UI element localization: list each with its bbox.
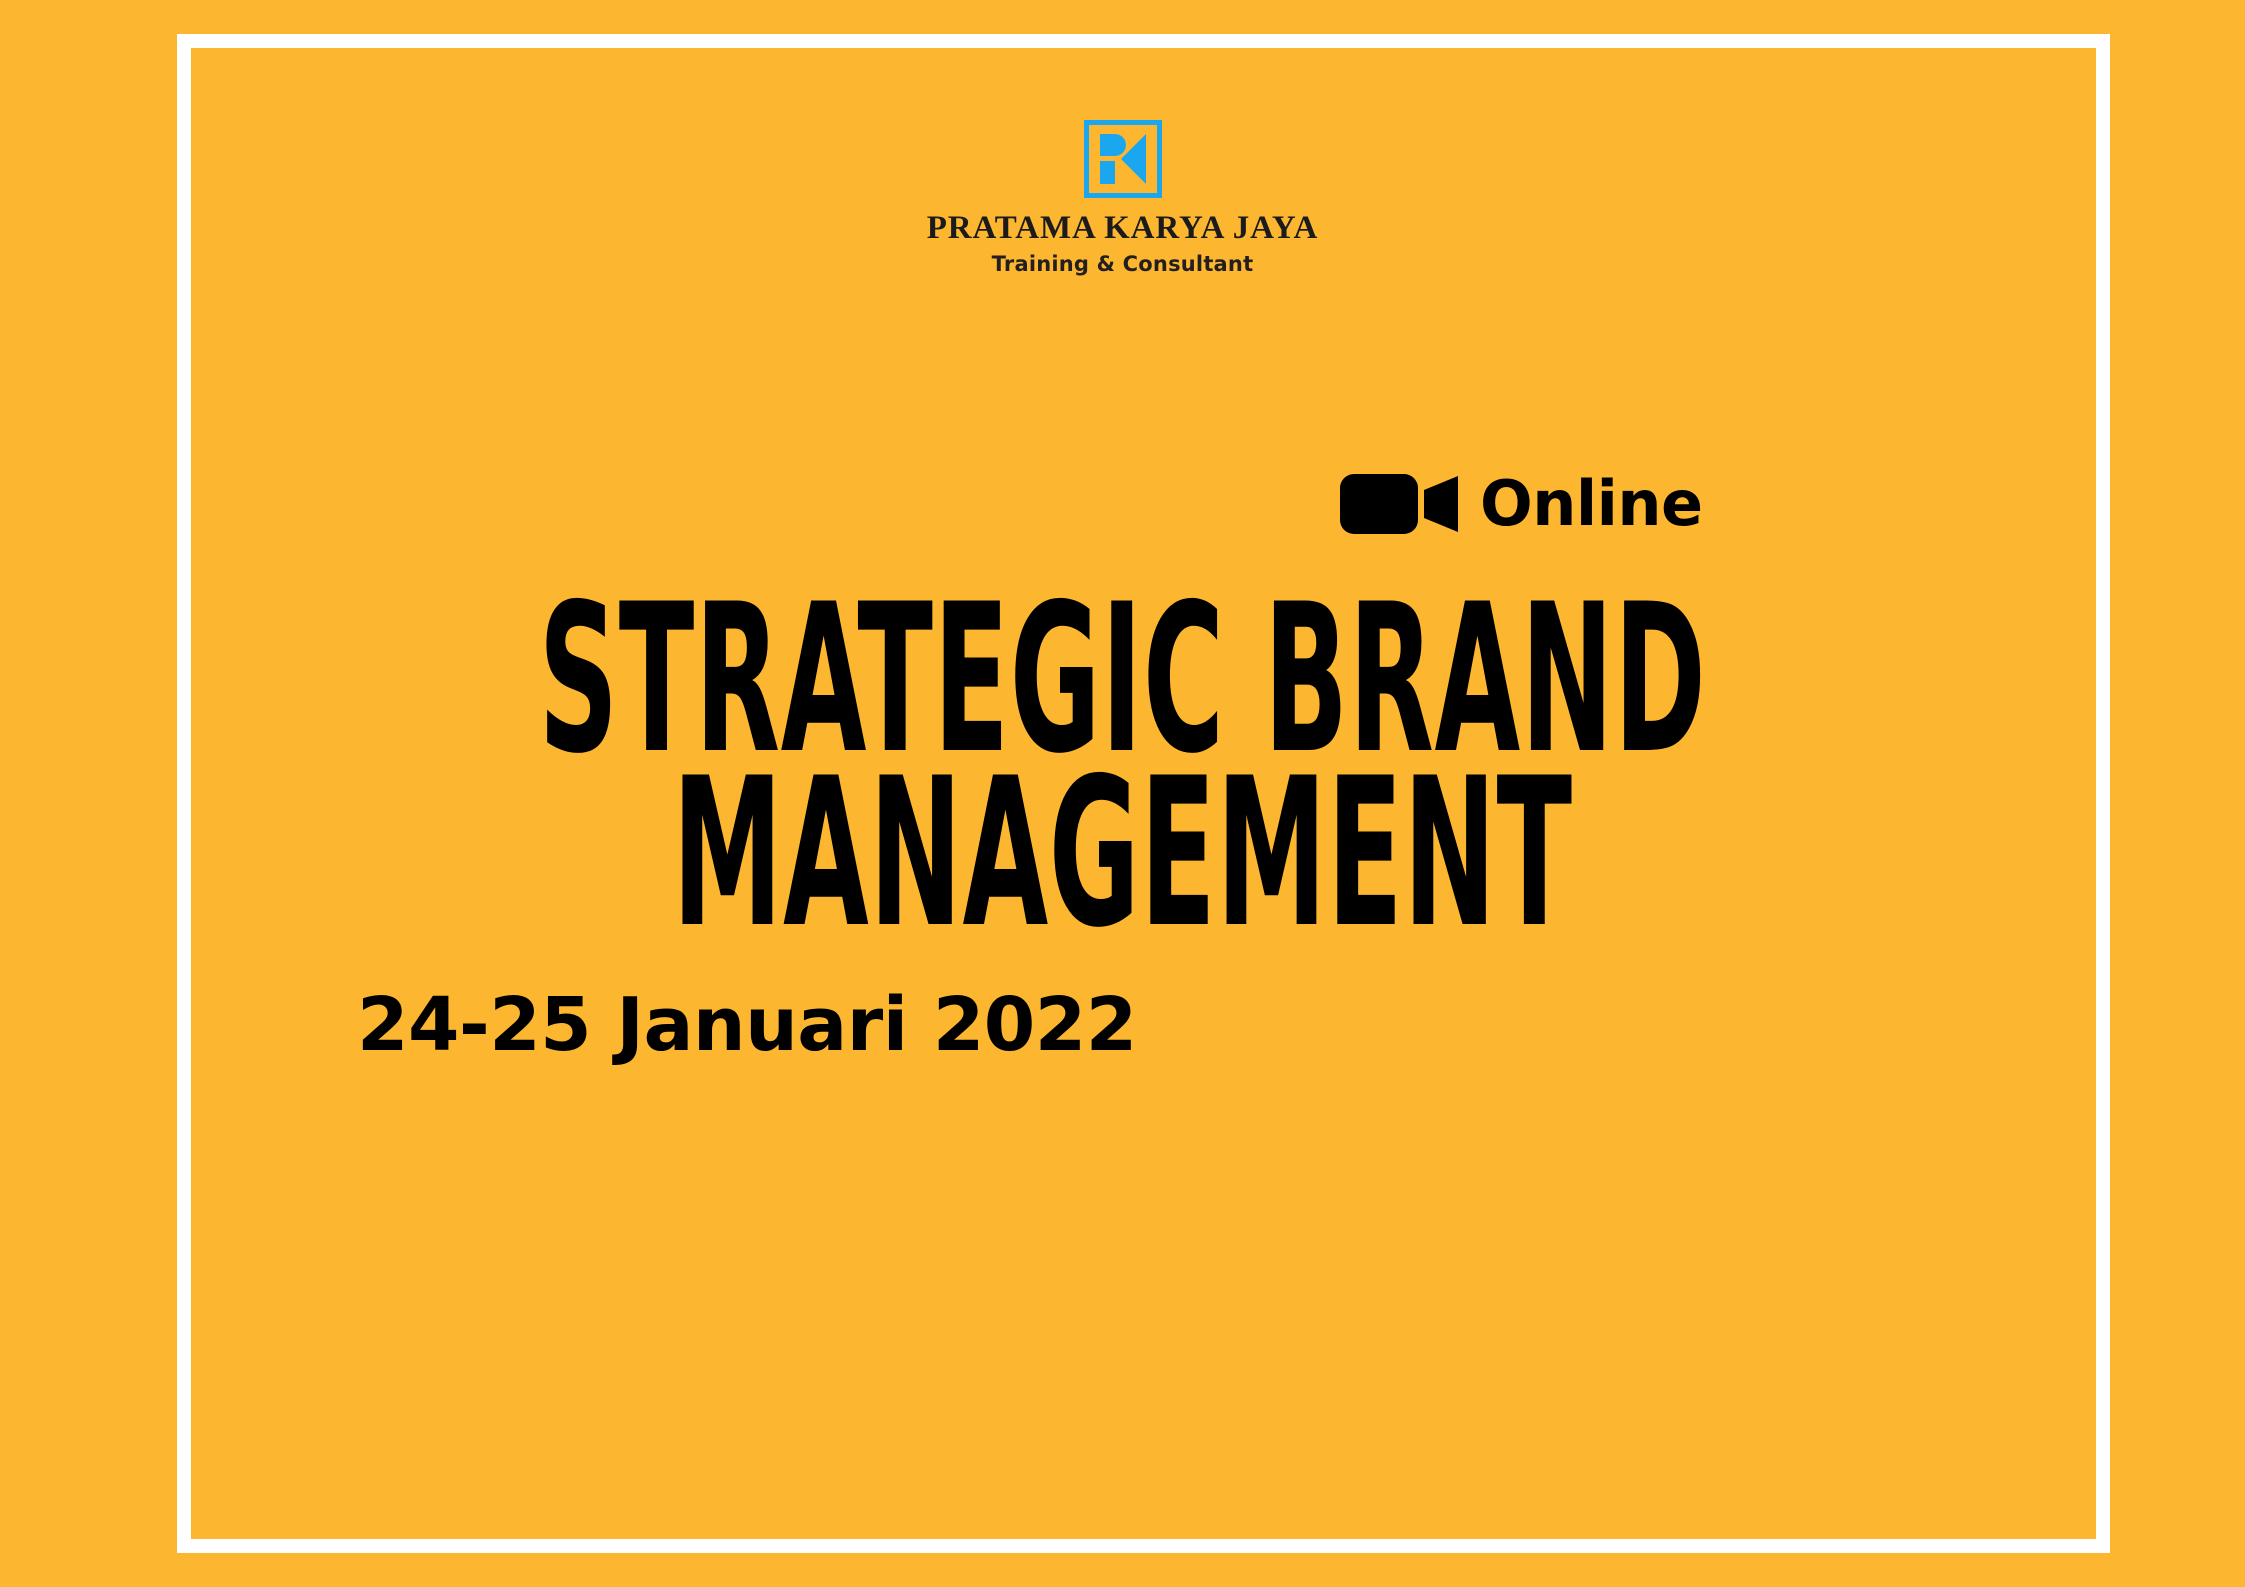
company-tagline: Training & Consultant <box>992 254 1254 275</box>
video-camera-icon <box>1340 470 1458 538</box>
event-poster: PRATAMA KARYA JAYA Training & Consultant… <box>0 0 2245 1587</box>
pratama-karya-jaya-monogram-icon <box>1084 120 1162 198</box>
online-badge: Online <box>1340 470 1703 538</box>
event-date: 24-25 Januari 2022 <box>357 988 1137 1062</box>
page-title: STRATEGIC BRAND MANAGEMENT <box>0 596 2245 938</box>
company-name: PRATAMA KARYA JAYA <box>927 212 1319 245</box>
title-line-2: MANAGEMENT <box>449 770 1796 938</box>
online-label: Online <box>1480 473 1703 535</box>
brand-logo-lockup: PRATAMA KARYA JAYA Training & Consultant <box>0 120 2245 275</box>
